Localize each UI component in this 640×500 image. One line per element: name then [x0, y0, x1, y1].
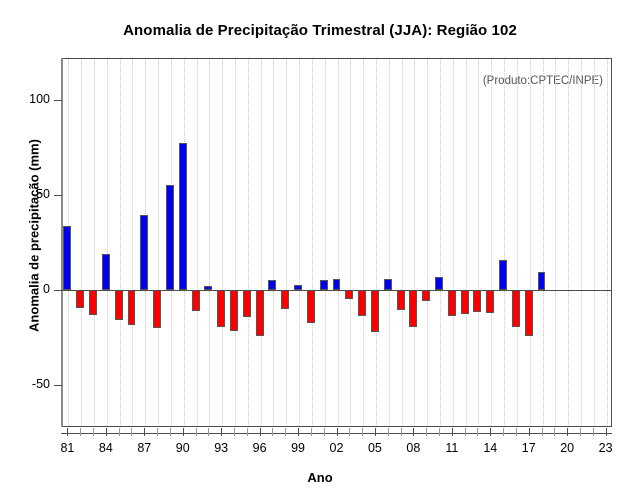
gridline-vertical	[261, 59, 262, 426]
bar	[281, 290, 289, 309]
x-axis-tick	[452, 428, 453, 436]
gridline-vertical	[81, 59, 82, 426]
gridline-vertical	[338, 59, 339, 426]
x-axis-tick	[554, 428, 555, 436]
x-axis-tick-label: 99	[291, 441, 305, 455]
y-axis-tick	[54, 195, 62, 196]
x-axis-tick	[285, 428, 286, 436]
x-axis-tick-label: 81	[60, 441, 74, 455]
x-axis-tick	[516, 428, 517, 436]
x-axis-tick	[503, 428, 504, 436]
gridline-vertical	[363, 59, 364, 426]
x-axis-tick	[606, 428, 607, 436]
x-axis-tick-label: 11	[445, 441, 458, 455]
x-axis-tick	[349, 428, 350, 436]
x-axis-tick	[272, 428, 273, 436]
bar	[538, 272, 546, 290]
bar	[435, 277, 443, 290]
x-axis-tick-label: 20	[560, 441, 574, 455]
x-axis-tick-label: 17	[522, 441, 536, 455]
zero-baseline	[61, 290, 612, 291]
x-axis-tick-label: 87	[137, 441, 151, 455]
x-axis-tick	[260, 428, 261, 436]
x-axis-tick	[388, 428, 389, 436]
bar	[486, 290, 494, 313]
bar	[461, 290, 469, 314]
x-axis-tick	[426, 428, 427, 436]
bar	[307, 290, 315, 323]
x-axis-tick	[208, 428, 209, 436]
x-axis-tick	[170, 428, 171, 436]
y-axis-tick-label: -50	[0, 377, 50, 391]
x-axis-tick	[567, 428, 568, 436]
x-axis-tick-label: 84	[99, 441, 113, 455]
x-axis-tick-label: 96	[253, 441, 267, 455]
bar	[371, 290, 379, 332]
y-axis-tick-label: 100	[0, 92, 50, 106]
x-axis-tick	[80, 428, 81, 436]
bar	[115, 290, 123, 319]
gridline-vertical	[132, 59, 133, 426]
gridline-vertical	[312, 59, 313, 426]
gridline-vertical	[504, 59, 505, 426]
x-axis-tick	[490, 428, 491, 436]
bar	[166, 185, 174, 290]
x-axis-tick	[311, 428, 312, 436]
x-axis-tick	[413, 428, 414, 436]
x-axis-tick	[106, 428, 107, 436]
bar	[256, 290, 264, 336]
gridline-vertical	[235, 59, 236, 426]
gridline-vertical	[491, 59, 492, 426]
x-axis-tick	[542, 428, 543, 436]
x-axis-tick	[529, 428, 530, 436]
x-axis-tick	[593, 428, 594, 436]
gridline-vertical	[158, 59, 159, 426]
bar	[192, 290, 200, 311]
bar	[89, 290, 97, 315]
gridline-vertical	[222, 59, 223, 426]
bar	[217, 290, 225, 327]
gridline-vertical	[594, 59, 595, 426]
chart-root: Anomalia de Precipitação Trimestral (JJA…	[0, 0, 640, 500]
bar	[409, 290, 417, 327]
bar	[473, 290, 481, 312]
bar	[345, 290, 353, 299]
bar	[499, 260, 507, 290]
gridline-vertical	[414, 59, 415, 426]
gridline-vertical	[350, 59, 351, 426]
bar	[102, 254, 110, 290]
bar	[525, 290, 533, 336]
gridline-vertical	[517, 59, 518, 426]
x-axis-tick	[183, 428, 184, 436]
gridline-vertical	[440, 59, 441, 426]
x-axis-tick	[580, 428, 581, 436]
bar	[333, 279, 341, 290]
gridline-vertical	[581, 59, 582, 426]
x-axis-tick	[439, 428, 440, 436]
y-axis-title: Anomalia de precipitação (mm)	[27, 106, 42, 366]
bar	[384, 279, 392, 290]
x-axis-title: Ano	[0, 470, 640, 485]
x-axis-tick	[221, 428, 222, 436]
x-axis-tick	[93, 428, 94, 436]
x-axis-tick	[119, 428, 120, 436]
gridline-vertical	[453, 59, 454, 426]
x-axis-tick	[401, 428, 402, 436]
x-axis-tick	[234, 428, 235, 436]
y-axis-tick	[54, 100, 62, 101]
x-axis-tick-label: 14	[483, 441, 497, 455]
x-axis-tick	[247, 428, 248, 436]
gridline-vertical	[376, 59, 377, 426]
gridline-vertical	[248, 59, 249, 426]
x-axis-tick	[465, 428, 466, 436]
gridline-vertical	[209, 59, 210, 426]
gridline-vertical	[299, 59, 300, 426]
x-axis-tick	[157, 428, 158, 436]
gridline-vertical	[94, 59, 95, 426]
y-axis-tick	[54, 385, 62, 386]
bar	[358, 290, 366, 316]
gridline-vertical	[402, 59, 403, 426]
gridline-vertical	[478, 59, 479, 426]
gridline-vertical	[543, 59, 544, 426]
bar	[63, 226, 71, 290]
x-axis-tick-label: 08	[406, 441, 420, 455]
x-axis-tick-label: 90	[176, 441, 190, 455]
bar	[397, 290, 405, 310]
bar	[153, 290, 161, 328]
x-axis-tick	[362, 428, 363, 436]
x-axis-tick-label: 23	[599, 441, 613, 455]
bar	[320, 280, 328, 290]
x-axis-tick	[196, 428, 197, 436]
gridline-vertical	[107, 59, 108, 426]
gridline-vertical	[286, 59, 287, 426]
x-axis-tick	[144, 428, 145, 436]
x-axis-tick-label: 02	[330, 441, 344, 455]
y-axis-tick	[54, 290, 62, 291]
bar	[230, 290, 238, 331]
gridline-vertical	[325, 59, 326, 426]
bar	[512, 290, 520, 327]
x-axis-tick	[375, 428, 376, 436]
gridline-vertical	[555, 59, 556, 426]
x-axis-tick-label: 05	[368, 441, 382, 455]
y-axis-tick-label: 50	[0, 187, 50, 201]
gridline-vertical	[607, 59, 608, 426]
x-axis-tick	[67, 428, 68, 436]
x-axis-tick	[131, 428, 132, 436]
gridline-vertical	[427, 59, 428, 426]
bar	[76, 290, 84, 308]
gridline-vertical	[568, 59, 569, 426]
x-axis-tick	[477, 428, 478, 436]
bar	[179, 143, 187, 290]
x-axis-tick	[298, 428, 299, 436]
bar	[140, 215, 148, 290]
x-axis-tick-label: 93	[214, 441, 228, 455]
gridline-vertical	[120, 59, 121, 426]
y-axis-tick-label: 0	[0, 282, 50, 296]
gridline-vertical	[530, 59, 531, 426]
bar	[128, 290, 136, 325]
x-axis-tick	[337, 428, 338, 436]
page-title: Anomalia de Precipitação Trimestral (JJA…	[0, 22, 640, 39]
bar	[243, 290, 251, 317]
bar	[268, 280, 276, 290]
bar	[422, 290, 430, 300]
x-axis-tick	[324, 428, 325, 436]
gridline-vertical	[466, 59, 467, 426]
gridline-vertical	[197, 59, 198, 426]
bar	[448, 290, 456, 316]
gridline-vertical	[389, 59, 390, 426]
gridline-vertical	[273, 59, 274, 426]
